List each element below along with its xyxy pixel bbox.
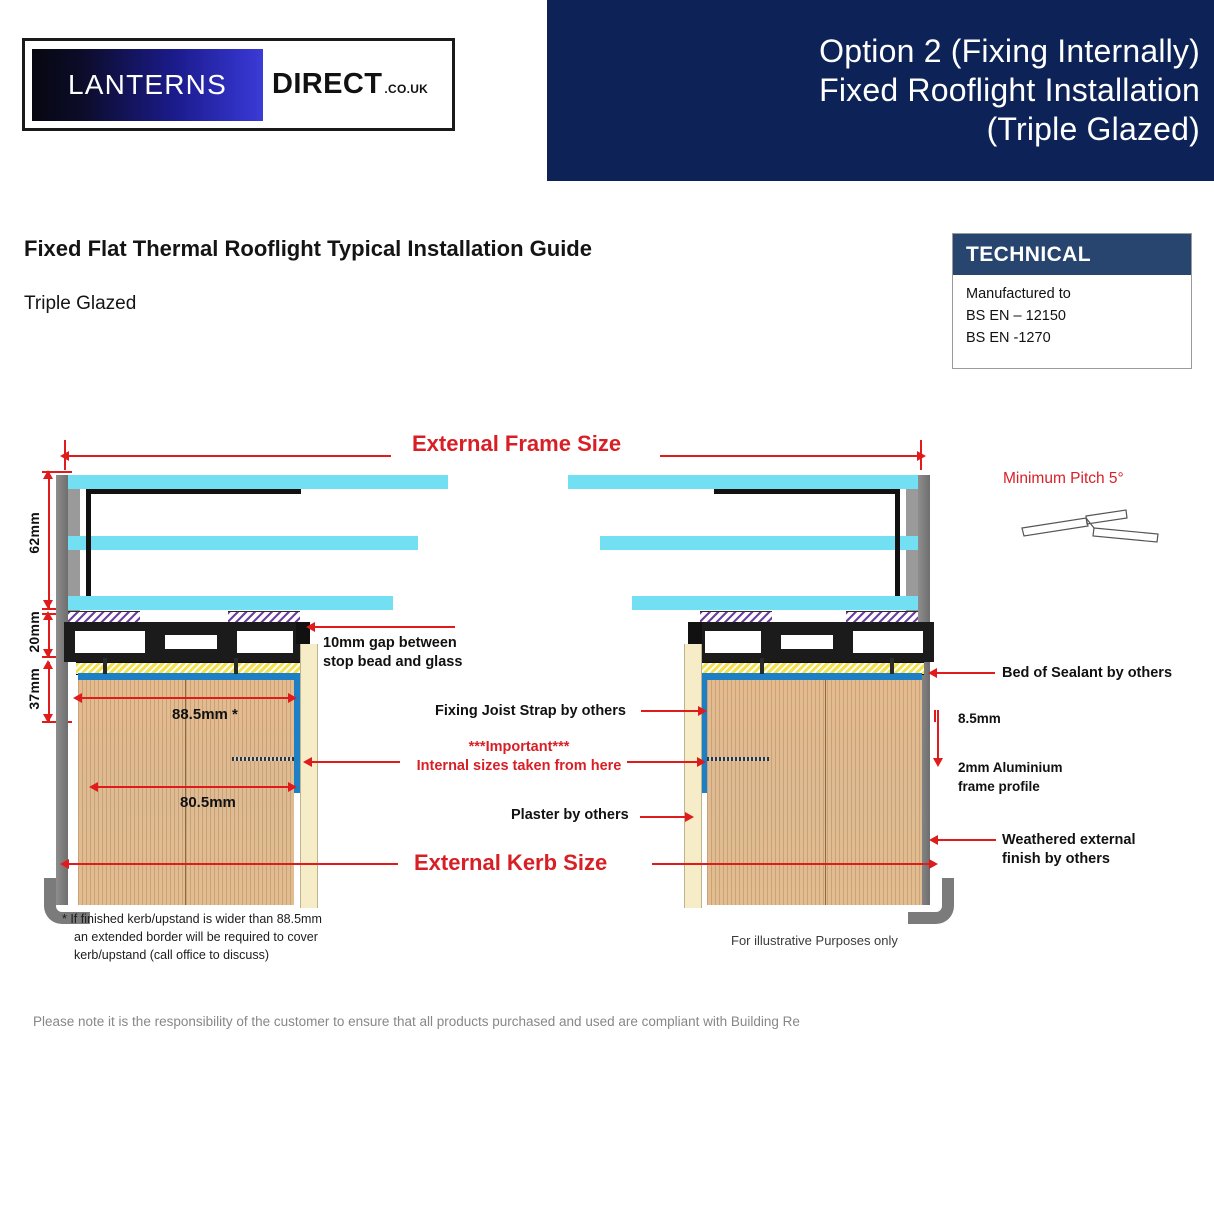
glass-pane-mid-right	[600, 536, 918, 550]
right-fixing-screw-b	[890, 658, 894, 674]
left-render-outer	[56, 475, 68, 905]
right-frame-chamber-mid	[776, 630, 838, 654]
callout-weathered-finish: Weathered external finish by others	[1002, 831, 1136, 869]
technical-line-3: BS EN -1270	[966, 327, 1191, 349]
callout-plaster: Plaster by others	[511, 806, 629, 825]
callout-joist-leader	[641, 710, 701, 712]
vdim-62-line	[48, 472, 50, 609]
callout-plaster-leader	[640, 816, 688, 818]
left-joist-strap-screw	[232, 757, 294, 761]
header-line-2: Fixed Rooflight Installation	[819, 71, 1200, 110]
callout-bed-of-sealant: Bed of Sealant by others	[1002, 664, 1172, 683]
glass-pane-inner-right	[632, 596, 918, 610]
vdim-20-label: 20mm	[26, 611, 42, 653]
callout-weathered-arrow	[929, 835, 938, 845]
vdim-37-label: 37mm	[26, 668, 42, 710]
hdim-885-arrow-right	[288, 693, 297, 703]
logo-direct-text: DIRECT	[272, 68, 382, 101]
callout-aluminium-leader	[937, 710, 939, 762]
hdim-805-arrow-left	[89, 782, 98, 792]
glass-spacer-top-left	[86, 489, 301, 494]
page-subtitle: Triple Glazed	[24, 293, 136, 315]
callout-85mm-line1: 8.5mm	[958, 709, 1001, 728]
logo-lanterns-text: LANTERNS	[68, 69, 227, 101]
left-fixing-screw-a	[103, 658, 107, 674]
left-frame-chamber-inner	[232, 626, 298, 658]
technical-line-1: Manufactured to	[966, 283, 1191, 305]
callout-aluminium-arrow	[933, 758, 943, 767]
left-frame-chamber-outer	[70, 626, 150, 658]
page-title: Fixed Flat Thermal Rooflight Typical Ins…	[24, 236, 592, 262]
logo-tld-text: .CO.UK	[384, 82, 428, 96]
vdim-62-tick-top	[42, 471, 72, 473]
external-frame-size-label: External Frame Size	[412, 431, 621, 457]
logo-lanterns-block: LANTERNS	[32, 49, 263, 121]
callout-85-tick	[934, 710, 936, 722]
pitch-angle-icon	[1010, 500, 1170, 553]
technical-panel: TECHNICAL Manufactured to BS EN – 12150 …	[952, 233, 1192, 369]
kerb-footnote-line-3: kerb/upstand (call office to discuss)	[74, 946, 322, 964]
left-frame-chamber-mid	[160, 630, 222, 654]
right-stop-bead	[688, 622, 702, 644]
callout-fixing-joist-strap-line1: Fixing Joist Strap by others	[435, 702, 626, 721]
callout-important: ***Important*** Internal sizes taken fro…	[414, 738, 624, 776]
hdim-885-arrow-left	[73, 693, 82, 703]
kerb-dim-right-arrow	[929, 859, 938, 869]
callout-aluminium-line1: 2mm Aluminium	[958, 758, 1063, 777]
callout-aluminium-frame-profile: 2mm Aluminium frame profile	[958, 758, 1063, 796]
technical-line-2: BS EN – 12150	[966, 305, 1191, 327]
glass-pane-mid-left	[68, 536, 418, 550]
header-banner: Option 2 (Fixing Internally) Fixed Roofl…	[547, 0, 1214, 181]
frame-dim-tick-right	[920, 440, 922, 470]
callout-important-leader-left	[310, 761, 400, 763]
glass-pane-outer-left	[68, 475, 448, 489]
callout-stopbead-arrow	[306, 622, 315, 632]
left-joist-strap	[78, 673, 300, 680]
callout-stop-bead-gap-line2: stop bead and glass	[323, 653, 462, 672]
hdim-885-label: 88.5mm *	[172, 706, 238, 723]
right-joist-strap	[700, 673, 922, 680]
callout-weathered-line2: finish by others	[1002, 850, 1136, 869]
header-line-3: (Triple Glazed)	[987, 110, 1200, 149]
callout-important-line1: ***Important***	[414, 738, 624, 757]
right-timber-centre-joint	[825, 680, 826, 905]
hdim-805-line	[96, 786, 294, 788]
callout-important-arrow-left	[303, 757, 312, 767]
frame-dim-tick-left	[64, 440, 66, 470]
kerb-upstand-footnote: * If finished kerb/upstand is wider than…	[62, 910, 322, 964]
right-frame-chamber-outer	[848, 626, 928, 658]
minimum-pitch-label: Minimum Pitch 5°	[1003, 470, 1124, 488]
callout-fixing-joist-strap: Fixing Joist Strap by others	[435, 702, 626, 721]
hdim-805-arrow-right	[288, 782, 297, 792]
callout-sealant-leader	[937, 672, 995, 674]
right-frame-chamber-inner	[700, 626, 766, 658]
callout-important-leader-right	[627, 761, 699, 763]
callout-important-arrow-right	[697, 757, 706, 767]
building-regs-disclaimer: Please note it is the responsibility of …	[33, 1014, 800, 1029]
glass-spacer-top-right	[714, 489, 900, 494]
kerb-dim-line-right	[652, 863, 930, 865]
technical-heading-text: TECHNICAL	[966, 243, 1091, 267]
right-plaster-board	[684, 644, 702, 908]
callout-stop-bead-gap-line1: 10mm gap between	[323, 634, 462, 653]
hdim-885-line	[80, 697, 295, 699]
right-fixing-screw-a	[760, 658, 764, 674]
left-plaster-board	[300, 644, 318, 908]
callout-sealant-arrow	[928, 668, 937, 678]
callout-plaster-line1: Plaster by others	[511, 806, 629, 825]
hdim-805-label: 80.5mm	[180, 794, 236, 811]
brand-logo: LANTERNS DIRECT .CO.UK	[22, 38, 455, 131]
vdim-37-arrow-top	[43, 660, 53, 669]
callout-weathered-line1: Weathered external	[1002, 831, 1136, 850]
callout-aluminium-line2: frame profile	[958, 777, 1063, 796]
callout-stop-bead-gap: 10mm gap between stop bead and glass	[323, 634, 462, 672]
technical-panel-header: TECHNICAL	[953, 234, 1191, 275]
callout-weathered-leader	[938, 839, 996, 841]
callout-bed-of-sealant-line1: Bed of Sealant by others	[1002, 664, 1172, 683]
glass-pane-outer-right	[568, 475, 918, 489]
frame-dim-line-right	[660, 455, 918, 457]
callout-plaster-arrow	[685, 812, 694, 822]
right-timber-kerb	[707, 680, 922, 905]
illustrative-purposes-note: For illustrative Purposes only	[731, 933, 898, 948]
glass-pane-inner-left	[68, 596, 393, 610]
header-line-1: Option 2 (Fixing Internally)	[819, 32, 1200, 71]
glass-spacer-vertical-left	[86, 489, 91, 596]
left-fixing-screw-b	[234, 658, 238, 674]
callout-85mm: 8.5mm	[958, 709, 1001, 728]
callout-joist-arrow	[698, 706, 707, 716]
logo-direct-block: DIRECT .CO.UK	[272, 68, 428, 101]
vdim-62-label: 62mm	[26, 512, 42, 554]
technical-panel-body: Manufactured to BS EN – 12150 BS EN -127…	[953, 275, 1191, 349]
frame-dim-line-left	[68, 455, 391, 457]
kerb-dim-line-left	[68, 863, 398, 865]
external-kerb-size-label: External Kerb Size	[414, 850, 607, 876]
right-joist-strap-screw	[707, 757, 769, 761]
vdim-37-line	[48, 662, 50, 722]
glass-spacer-vertical-right	[895, 489, 900, 596]
callout-stopbead-leader	[310, 626, 455, 628]
kerb-footnote-line-1: * If finished kerb/upstand is wider than…	[62, 910, 322, 928]
callout-important-line2: Internal sizes taken from here	[414, 757, 624, 776]
kerb-footnote-line-2: an extended border will be required to c…	[74, 928, 322, 946]
